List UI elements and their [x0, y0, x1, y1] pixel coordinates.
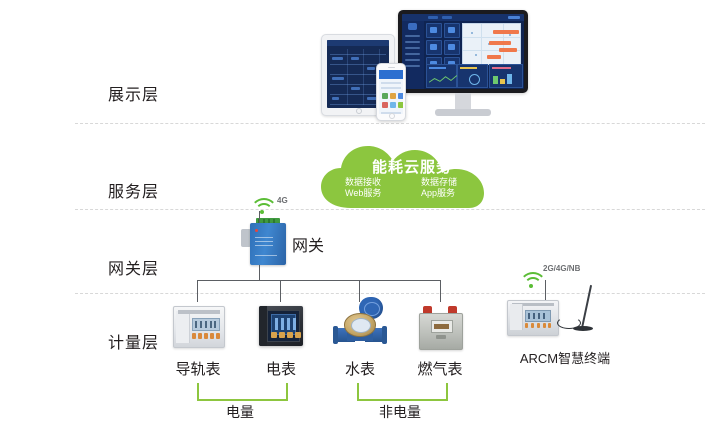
- desktop-monitor-device: [398, 10, 528, 118]
- gateway-label: 网关: [292, 232, 324, 256]
- antenna-base: [573, 326, 593, 331]
- meter-label: 电表: [246, 358, 316, 379]
- map-widget: [462, 23, 521, 65]
- tablet-home-button: [356, 108, 362, 114]
- monitor-stand-base: [435, 109, 491, 116]
- cloud-service-item: 数据接收: [345, 177, 381, 188]
- gas-meter-icon: [419, 306, 461, 348]
- gateway-device-body: [250, 223, 286, 265]
- wifi-signal-icon: [250, 198, 276, 216]
- architecture-diagram: 展示层 服务层 网关层 计量层: [0, 0, 715, 443]
- terminal-network-label: 2G/4G/NB: [543, 264, 580, 273]
- water-meter-icon: [333, 297, 387, 349]
- layer-divider-display-service: [75, 123, 705, 124]
- display-layer-devices: [305, 8, 535, 120]
- bracket-electricity: [197, 383, 288, 401]
- layer-label-gateway: 网关层: [108, 255, 198, 279]
- terminal-label: ARCM智慧终端: [495, 348, 635, 367]
- gateway-device-group: 4G 网关: [232, 196, 352, 266]
- connector-to-meter-3: [440, 280, 441, 302]
- monitor-stand-neck: [455, 93, 471, 109]
- din-rail-meter-icon: [173, 306, 225, 348]
- bracket-label-non-electricity: 非电量: [340, 402, 460, 422]
- electric-meter-icon: [259, 306, 303, 346]
- meter-label: 水表: [325, 358, 395, 379]
- meter-label: 燃气表: [405, 358, 475, 379]
- antenna-icon: [581, 285, 592, 328]
- monitor-screen: [402, 14, 524, 89]
- wifi-signal-icon: [519, 272, 545, 290]
- bracket-non-electricity: [357, 383, 448, 401]
- layer-label-display: 展示层: [108, 81, 198, 105]
- arcm-terminal-group: 2G/4G/NB ARCM智慧终端: [495, 262, 635, 372]
- cloud-services-right: 数据存储 App服务: [421, 177, 457, 199]
- connector-to-meter-0: [197, 280, 198, 302]
- connector-bus-horizontal: [197, 280, 440, 281]
- cloud-title: 能耗云服务: [317, 156, 507, 177]
- cloud-service-item: 数据存储: [421, 177, 457, 188]
- connector-gateway-down: [259, 265, 260, 280]
- arcm-device-body: [507, 300, 559, 336]
- layer-label-service: 服务层: [108, 178, 198, 202]
- phone-screen: [379, 70, 403, 114]
- meter-label: 导轨表: [163, 358, 233, 379]
- gateway-network-label: 4G: [277, 196, 288, 205]
- cloud-service-item: App服务: [421, 188, 457, 199]
- connector-to-meter-1: [280, 280, 281, 302]
- bracket-label-electricity: 电量: [180, 402, 300, 422]
- smartphone-device: [376, 63, 406, 121]
- connector-cloud-to-gateway: [259, 211, 260, 223]
- phone-home-button: [389, 113, 395, 119]
